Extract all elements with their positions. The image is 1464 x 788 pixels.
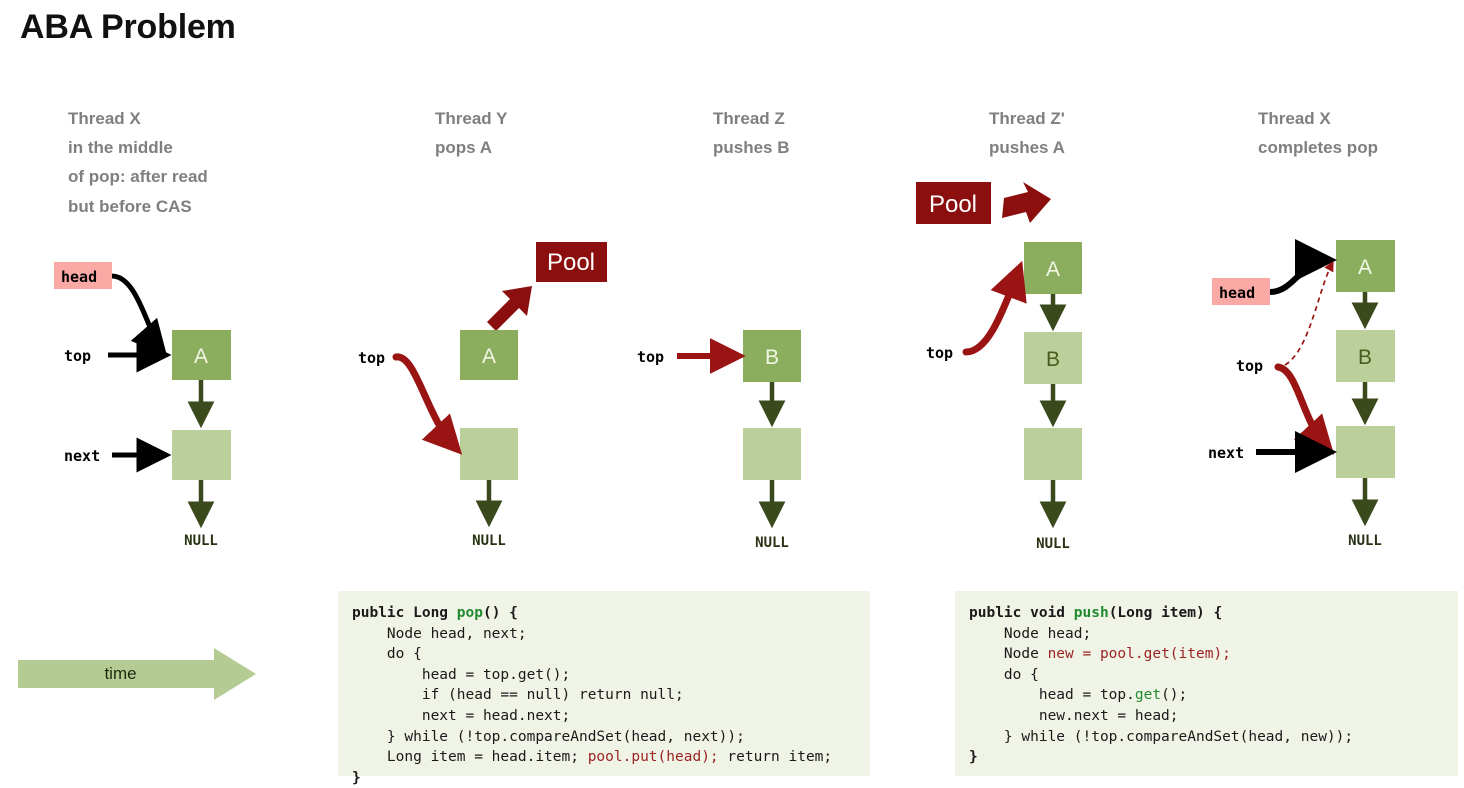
top-label: top	[358, 349, 385, 367]
code-line: head = top.get();	[352, 665, 856, 686]
code-token: do {	[352, 646, 422, 662]
code-line: Node new = pool.get(item);	[969, 644, 1444, 665]
code-token: do {	[969, 667, 1039, 683]
code-token: public Long	[352, 605, 457, 621]
code-token: public void	[969, 605, 1074, 621]
top-label: top	[64, 347, 91, 365]
time-arrow-label: time	[18, 648, 223, 700]
code-line: public Long pop() {	[352, 603, 856, 624]
head-label: head	[1219, 284, 1255, 302]
code-block-pop: public Long pop() { Node head, next; do …	[338, 591, 870, 776]
node-box-empty	[172, 430, 231, 480]
code-line: Long item = head.item; pool.put(head); r…	[352, 747, 856, 768]
head-label: head	[61, 268, 97, 286]
node-box-a-label: A	[194, 345, 208, 368]
code-line: }	[352, 768, 856, 788]
null-terminator-label: NULL	[755, 535, 789, 551]
code-token: (Long item) {	[1109, 605, 1223, 621]
code-token: Node head, next;	[352, 626, 527, 642]
column-heading-thread-x-completes: Thread X completes pop	[1258, 104, 1378, 162]
slide-root: ABA Problem Thread X in the middle of po…	[0, 0, 1464, 776]
code-line: }	[969, 747, 1444, 768]
null-terminator-label: NULL	[472, 533, 506, 549]
diagram-thread-zp-pushes-a: Pool A B NULL top	[890, 170, 1150, 570]
code-token: get	[1135, 687, 1161, 703]
node-box-empty	[460, 428, 518, 480]
diagram-thread-x-completes: A B NULL head top next	[1190, 230, 1460, 570]
column-heading-thread-y-pops-a: Thread Y pops A	[435, 104, 507, 162]
code-line: do {	[969, 665, 1444, 686]
node-box-b-label: B	[1358, 346, 1372, 369]
code-token: pop	[457, 605, 483, 621]
code-token: new.next = head;	[969, 708, 1179, 724]
node-box-empty	[1024, 428, 1082, 480]
top-label: top	[1236, 357, 1263, 375]
code-token: head = top.get();	[352, 667, 570, 683]
code-token: }	[352, 770, 361, 786]
top-label: top	[637, 348, 664, 366]
code-line: head = top.get();	[969, 685, 1444, 706]
node-box-empty	[743, 428, 801, 480]
diagram-thread-y-pops-a: Pool A NULL top	[340, 230, 630, 570]
code-block-push: public void push(Long item) { Node head;…	[955, 591, 1458, 776]
pool-block-arrow	[487, 286, 532, 331]
page-title: ABA Problem	[20, 8, 236, 47]
top-pointer-arrow	[396, 357, 454, 446]
column-heading-thread-zp-pushes-a: Thread Z' pushes A	[989, 104, 1065, 162]
top-pointer-arrow	[966, 272, 1018, 352]
column-heading-thread-z-pushes-b: Thread Z pushes B	[713, 104, 790, 162]
node-box-b-label: B	[1046, 348, 1060, 371]
pool-label: Pool	[547, 249, 595, 276]
diagram-thread-x-mid: A NULL head top next	[40, 250, 340, 570]
next-label: next	[64, 447, 100, 465]
node-box-empty	[1336, 426, 1395, 478]
code-line: next = head.next;	[352, 706, 856, 727]
code-token: next = head.next;	[352, 708, 570, 724]
code-token: head = top.	[969, 687, 1135, 703]
code-line: public void push(Long item) {	[969, 603, 1444, 624]
code-token: return item;	[719, 749, 833, 765]
code-token: } while (!top.compareAndSet(head, new));	[969, 729, 1353, 745]
code-line: Node head, next;	[352, 624, 856, 645]
code-token: () {	[483, 605, 518, 621]
null-terminator-label: NULL	[1348, 533, 1382, 549]
code-line: do {	[352, 644, 856, 665]
next-label: next	[1208, 444, 1244, 462]
time-axis-arrow: time	[18, 648, 258, 700]
diagram-thread-z-pushes-b: B NULL top	[615, 300, 875, 570]
pool-block-arrow	[1002, 182, 1051, 223]
pool-label: Pool	[929, 191, 977, 218]
code-token: }	[969, 749, 978, 765]
top-label: top	[926, 344, 953, 362]
code-token: Node head;	[969, 626, 1091, 642]
code-token: ();	[1161, 687, 1187, 703]
code-token: push	[1074, 605, 1109, 621]
head-pointer-arrow	[1270, 260, 1328, 292]
top-pointer-arrow	[1278, 367, 1326, 446]
code-line: new.next = head;	[969, 706, 1444, 727]
node-box-a-label: A	[482, 345, 496, 368]
code-token: Node	[969, 646, 1048, 662]
code-token: new = pool.get(item);	[1048, 646, 1231, 662]
code-token: if (head == null) return null;	[352, 687, 684, 703]
code-line: } while (!top.compareAndSet(head, next))…	[352, 727, 856, 748]
null-terminator-label: NULL	[1036, 536, 1070, 552]
code-token: pool.put(head);	[588, 749, 719, 765]
code-token: Long item = head.item;	[352, 749, 588, 765]
code-token: } while (!top.compareAndSet(head, next))…	[352, 729, 745, 745]
head-pointer-arrow	[112, 276, 162, 350]
code-line: } while (!top.compareAndSet(head, new));	[969, 727, 1444, 748]
code-line: Node head;	[969, 624, 1444, 645]
node-box-a-label: A	[1046, 258, 1060, 281]
code-line: if (head == null) return null;	[352, 685, 856, 706]
column-heading-thread-x-mid: Thread X in the middle of pop: after rea…	[68, 104, 208, 221]
node-box-b-label: B	[765, 346, 779, 369]
null-terminator-label: NULL	[184, 533, 218, 549]
node-box-a-label: A	[1358, 256, 1372, 279]
